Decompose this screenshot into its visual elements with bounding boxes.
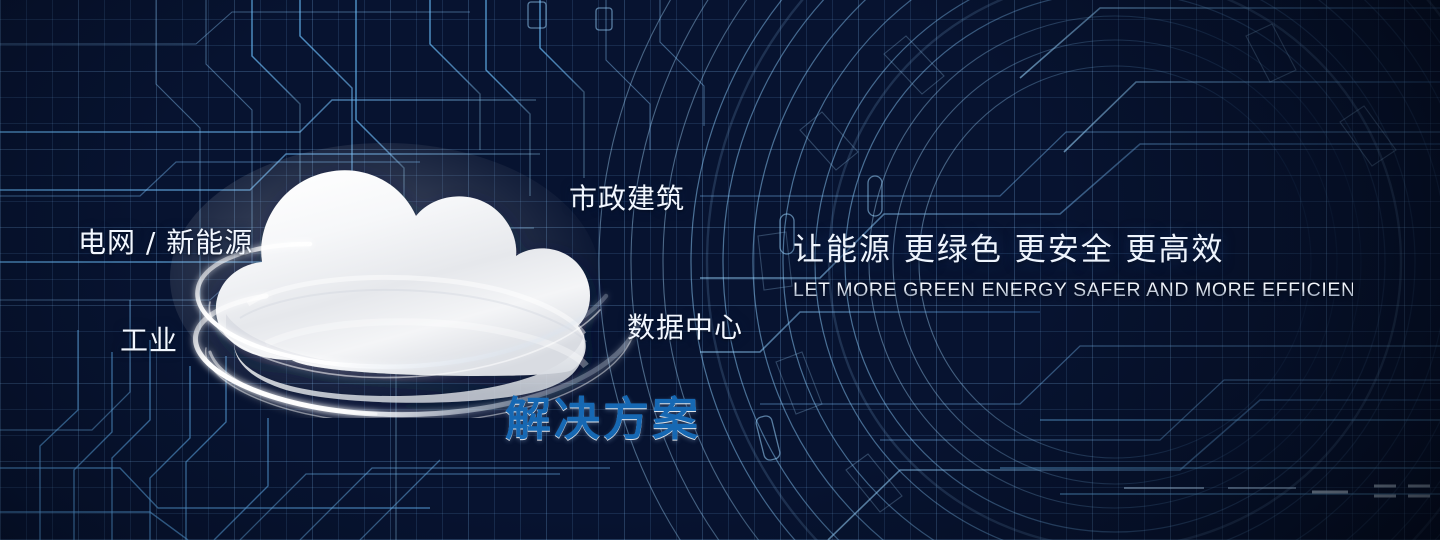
- cloud-title: 解决方案: [505, 383, 701, 449]
- cloud-shape: [170, 128, 640, 418]
- slogan-block: 让能源 更绿色 更安全 更高效 LET MORE GREEN ENERGY SA…: [793, 224, 1353, 302]
- label-municipal-building: 市政建筑: [569, 177, 685, 217]
- slogan-chinese: 让能源 更绿色 更安全 更高效: [793, 224, 1353, 269]
- label-grid-new-energy: 电网 / 新能源: [78, 221, 253, 261]
- label-industry: 工业: [120, 319, 178, 359]
- slogan-english: LET MORE GREEN ENERGY SAFER AND MORE EFF…: [793, 279, 1353, 302]
- solutions-hero-banner: 解决方案 电网 / 新能源 工业 市政建筑 数据中心 让能源 更绿色 更安全 更…: [0, 0, 1440, 540]
- label-data-center: 数据中心: [627, 306, 743, 346]
- cloud-graphic: 解决方案: [170, 128, 640, 418]
